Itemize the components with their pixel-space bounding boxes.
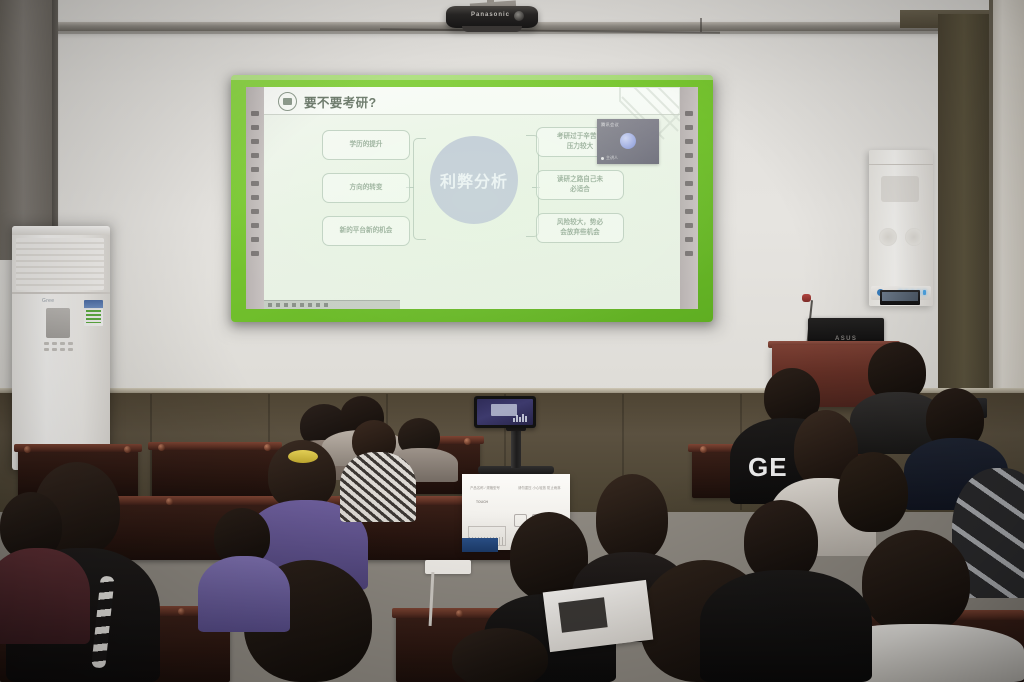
bench-bolt [158, 444, 165, 451]
ac-energy-bars [86, 310, 101, 323]
ac-brand-label: Gree [42, 298, 54, 304]
phone-screen [477, 399, 533, 425]
pro-node-2: 方向的转变 [322, 173, 410, 203]
projector-base [462, 26, 522, 32]
bench-bolt [124, 446, 131, 453]
carton-brand: TOUCH [476, 500, 488, 505]
wall-unit-logo-panel [881, 176, 919, 202]
ac-energy-label [84, 300, 103, 326]
shoulders [0, 548, 90, 644]
right-toolbar-rail[interactable] [680, 87, 698, 309]
wall-unit-vent-left [879, 228, 897, 246]
pro-node-3: 新的平台新的机会 [322, 216, 410, 246]
bench-bolt [178, 608, 185, 615]
shoulders [700, 570, 872, 682]
presentation-slide: 要不要考研? 学历的提升 方向的转变 [264, 87, 680, 309]
projector-lens [514, 11, 524, 21]
ac-button-group[interactable] [44, 342, 74, 354]
phone-screen-bars [513, 413, 529, 422]
ceiling-wire-2 [700, 18, 702, 32]
recording-smartphone[interactable] [474, 396, 536, 428]
shoulders [198, 556, 290, 632]
wall-unit-led [923, 290, 926, 295]
head [596, 474, 668, 562]
whiteboard-screen[interactable]: 要不要考研? 学历的提升 方向的转变 [246, 87, 698, 309]
podium-monitor-screen [882, 292, 918, 301]
bench-row-back [152, 446, 278, 500]
ac-display-panel [46, 308, 70, 338]
frame-highlight [231, 75, 713, 80]
ceiling-projector: Panasonic [446, 6, 538, 28]
bench-bolt [464, 438, 471, 445]
wall-mounted-purifier[interactable] [869, 150, 933, 306]
hair-tie-accessory [288, 450, 318, 463]
shoulders [340, 452, 416, 522]
bench-bolt [166, 498, 173, 505]
left-concrete-pillar [0, 0, 58, 260]
carton-label-line1: 产品名称 / 规格型号 [470, 486, 514, 491]
microphone-head-icon [802, 294, 811, 302]
interactive-whiteboard-frame: 要不要考研? 学历的提升 方向的转变 [231, 75, 713, 322]
ac-panel-divider [12, 292, 110, 294]
carton-label-line2: 请勿重压 小心轻放 防止雨淋 [518, 486, 564, 491]
jacket-logo-text: GE [748, 452, 788, 483]
slide-logo-icon [278, 92, 297, 111]
lecture-hall-photo: Panasonic [0, 0, 1024, 682]
projector-brand-label: Panasonic [471, 12, 510, 18]
con-node-2: 读研之路自己未 必适合 [536, 170, 624, 200]
bench-bolt [264, 444, 271, 451]
handout-text-block [558, 597, 607, 632]
ac-air-grille [16, 238, 104, 290]
right-dark-column [938, 14, 996, 434]
slide-taskbar[interactable] [264, 300, 400, 309]
video-call-overlay[interactable]: 腾讯会议 主讲人 [597, 119, 659, 164]
left-toolbar-rail[interactable] [246, 87, 264, 309]
podium-secondary-monitor [880, 290, 920, 305]
head [862, 530, 970, 634]
head [452, 628, 548, 682]
center-topic-circle: 利弊分析 [430, 136, 518, 224]
tripod-stem [511, 428, 521, 468]
slide-title: 要不要考研? [304, 92, 377, 111]
branch-connector-left [413, 138, 426, 240]
video-call-avatar [620, 133, 636, 149]
video-status-dot [601, 157, 604, 160]
head [838, 452, 908, 532]
wall-unit-seam [869, 164, 933, 165]
con-node-3: 风险较大，势必 会放弃些机会 [536, 213, 624, 243]
floor-air-conditioner[interactable]: Gree [12, 226, 110, 470]
carton-blue-box [462, 538, 498, 552]
pro-node-1: 学历的提升 [322, 130, 410, 160]
wall-unit-vent-right [905, 228, 923, 246]
bench-bolt [456, 610, 463, 617]
right-door[interactable] [993, 0, 1024, 450]
bench-rail [148, 442, 282, 450]
video-call-title: 腾讯会议 [601, 122, 619, 128]
bench-rail [14, 444, 142, 452]
bench-bolt [24, 446, 31, 453]
bench-bolt [700, 446, 707, 453]
video-call-status: 主讲人 [601, 155, 618, 161]
ac-top-cap [12, 226, 110, 235]
